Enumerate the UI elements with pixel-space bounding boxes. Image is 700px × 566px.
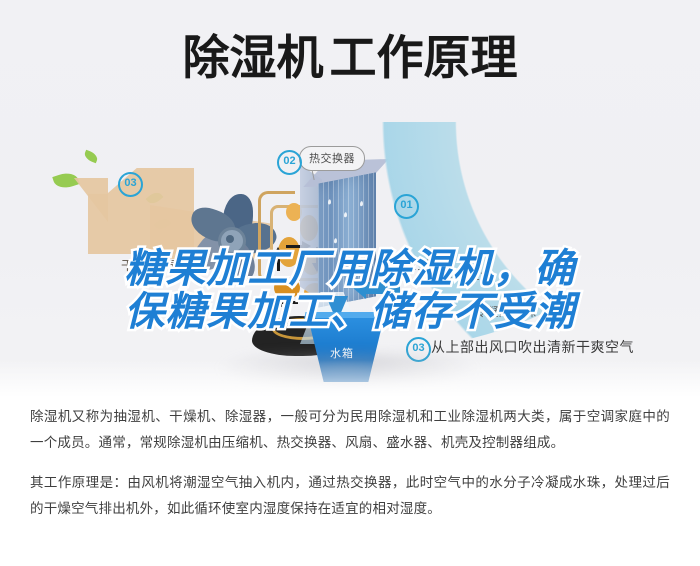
leaf-icon [83,150,99,164]
page-title-part1: 除湿机 [183,31,324,86]
paragraph-2: 其工作原理是：由风机将潮湿空气抽入机内，通过热交换器，此时空气中的水分子冷凝成水… [30,470,670,522]
badge-03-dry-air: 03 [118,172,143,197]
step-1-note: 吸入潮湿空气 [418,266,493,283]
flow-arrow-left-icon [273,297,282,307]
heat-exchanger-callout: 热交换器 [299,146,365,171]
dry-air-arrow-tip-icon [74,178,108,222]
fan-hub [218,227,246,255]
bottom-fade [0,360,700,400]
dehumidifier-diagram: 除湿机工作原理 干燥空气 03 [0,0,700,400]
flow-arrow-up-icon [273,247,283,256]
flow-arrow-stem [277,255,280,271]
dry-air-label: 干燥空气 [121,255,177,274]
flow-arrow-stem [282,301,298,304]
paragraph-1: 除湿机又称为抽湿机、干燥机、除湿器，一般可分为民用除湿机和工业除湿机两大类，属于… [30,404,670,456]
page-title-part2: 工作原理 [330,31,518,86]
copper-coil [274,277,300,299]
badge-02-heat-exchanger: 02 [277,150,302,175]
page-title: 除湿机工作原理 [0,28,700,90]
article-body: 除湿机又称为抽湿机、干燥机、除湿器，一般可分为民用除湿机和工业除湿机两大类，属于… [0,404,700,522]
step-2-note: 冷凝成水珠 [474,303,537,320]
badge-01-humid-air: 01 [394,194,419,219]
air-intake-arrow-icon [366,282,400,294]
poster-page: 除湿机工作原理 干燥空气 03 [0,0,700,566]
